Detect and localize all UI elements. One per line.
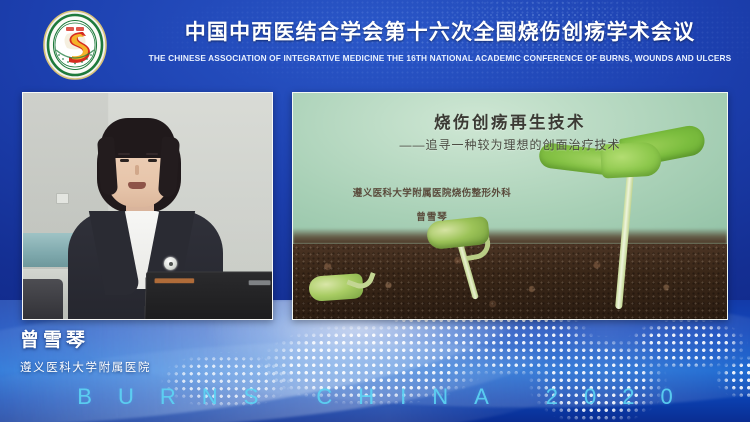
header-title-block: 中国中西医结合学会第十六次全国烧伤创疡学术会议 THE CHINESE ASSO… (140, 18, 740, 64)
speaker-caption: 曾雪琴 遵义医科大学附属医院 (20, 325, 280, 375)
speaker-affiliation: 遵义医科大学附属医院 (20, 359, 280, 375)
slide-presenter-name: 曾雪琴 (337, 209, 527, 223)
speaker-eyebrow-right (146, 153, 158, 155)
speaker-name: 曾雪琴 (20, 325, 280, 352)
conference-title-english: THE CHINESE ASSOCIATION OF INTEGRATIVE M… (143, 53, 737, 64)
slide-organization: 遵义医科大学附属医院烧伤整形外科 (337, 185, 527, 199)
laptop-logo (249, 280, 271, 285)
lapel-pin-badge (164, 257, 177, 270)
wall-outlet (56, 193, 69, 204)
presentation-slide-panel[interactable]: 烧伤创疡再生技术 ——追寻一种较为理想的创面治疗技术 遵义医科大学附属医院烧伤整… (292, 92, 728, 320)
speaker-video-panel[interactable] (22, 92, 273, 320)
speaker-eyebrow-left (118, 153, 130, 155)
association-emblem-logo (42, 10, 108, 80)
slide-title: 烧伤创疡再生技术 (293, 109, 727, 133)
slide-content: 烧伤创疡再生技术 ——追寻一种较为理想的创面治疗技术 遵义医科大学附属医院烧伤整… (293, 93, 727, 319)
speaker-eye-right (148, 159, 157, 162)
seedling-small (309, 263, 399, 320)
speaker-mouth (128, 182, 146, 189)
speaker-video-image (23, 93, 272, 319)
seedling-stem (615, 159, 635, 309)
chair (22, 279, 63, 320)
conference-header-banner: 中国中西医结合学会第十六次全国烧伤创疡学术会议 THE CHINESE ASSO… (0, 0, 750, 92)
laptop-screen (144, 272, 273, 320)
broadcast-stage: 中国中西医结合学会第十六次全国烧伤创疡学术会议 THE CHINESE ASSO… (0, 0, 750, 422)
laptop-sticker (154, 278, 194, 283)
speaker-eye-left (120, 159, 129, 162)
slide-subtitle: ——追寻一种较为理想的创面治疗技术 (293, 136, 727, 153)
speaker-nose (135, 165, 139, 175)
seedling-medium (421, 215, 531, 305)
conference-title-chinese: 中国中西医结合学会第十六次全国烧伤创疡学术会议 (140, 18, 740, 48)
